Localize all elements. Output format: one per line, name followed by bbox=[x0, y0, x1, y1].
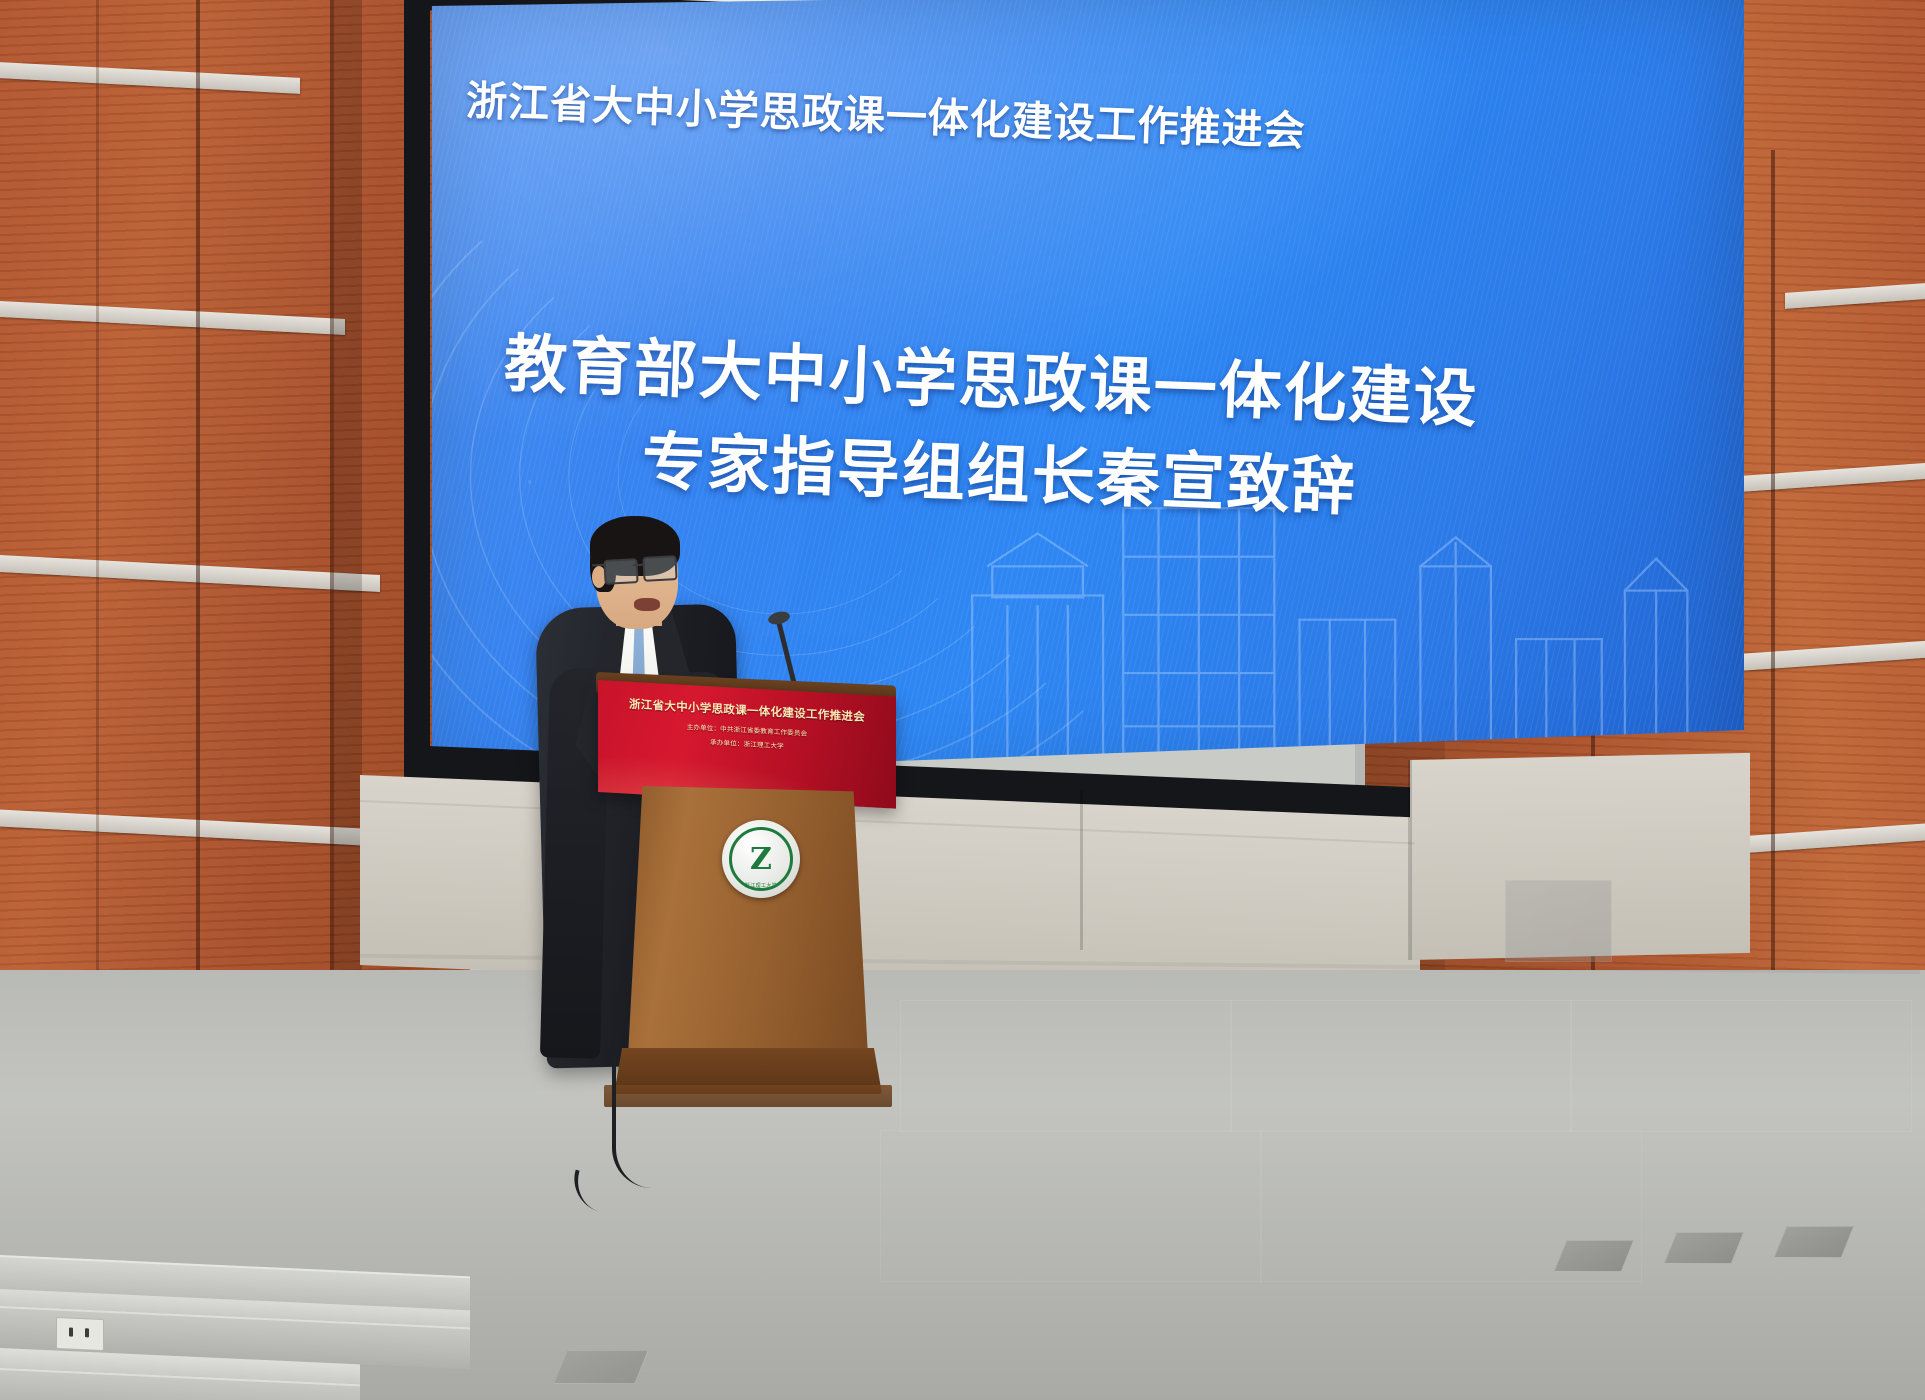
power-outlet-icon[interactable] bbox=[56, 1317, 104, 1351]
eyeglasses-left-lens bbox=[603, 558, 638, 585]
emblem-caption: 浙江理工大学 bbox=[722, 882, 800, 889]
back-wall-seam bbox=[1080, 790, 1083, 950]
back-wall-patch bbox=[1505, 880, 1612, 962]
floor-marker bbox=[1554, 1240, 1635, 1272]
floor-cable bbox=[612, 1058, 652, 1188]
floor-tile bbox=[1570, 1000, 1912, 1132]
emblem-glyph: Z bbox=[750, 842, 772, 877]
floor-marker bbox=[1774, 1226, 1855, 1258]
floor-tile bbox=[900, 1000, 1232, 1132]
speaker-mouth bbox=[634, 598, 660, 611]
back-wall-seam bbox=[1408, 760, 1412, 960]
university-emblem-icon: Z 浙江理工大学 bbox=[722, 820, 800, 898]
screenshot-root: 浙江省大中小学思政课一体化建设工作推进会 教育部大中小学思政课一体化建设 专家指… bbox=[0, 0, 1925, 1400]
floor-tile bbox=[880, 1130, 1262, 1282]
floor-marker bbox=[1664, 1232, 1745, 1264]
eyeglasses-right-lens bbox=[642, 555, 677, 582]
floor-marker bbox=[553, 1350, 649, 1384]
floor-tile bbox=[1230, 1000, 1572, 1132]
